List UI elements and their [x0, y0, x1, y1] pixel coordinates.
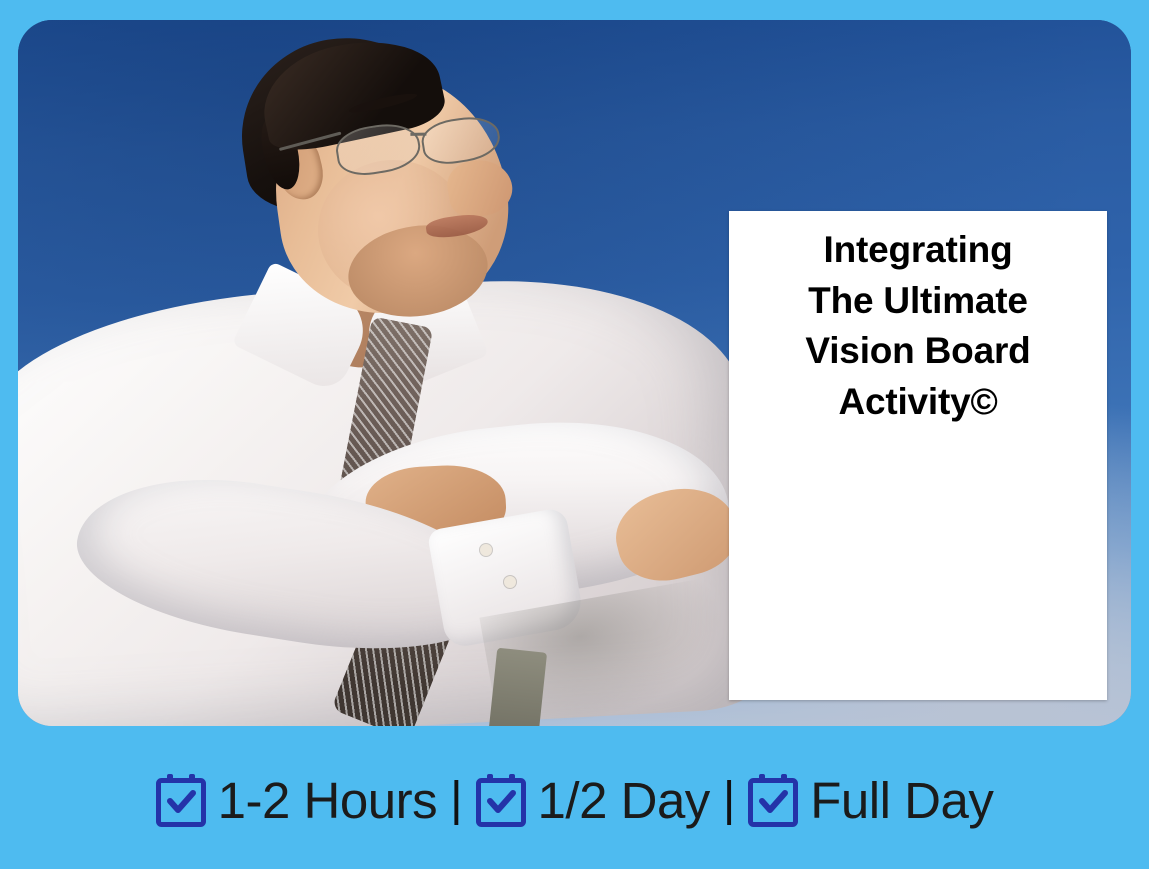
slide-root: Integrating The Ultimate Vision Board Ac…: [0, 0, 1149, 869]
cuff-button-2: [504, 576, 516, 588]
duration-option-half-day[interactable]: 1/2 Day: [476, 771, 710, 830]
duration-label: 1/2 Day: [538, 771, 710, 830]
duration-option-full-day[interactable]: Full Day: [748, 771, 993, 830]
page-title: Integrating The Ultimate Vision Board Ac…: [729, 211, 1107, 428]
calendar-check-icon: [476, 773, 526, 827]
lens-left: [333, 119, 423, 180]
title-card: Integrating The Ultimate Vision Board Ac…: [729, 211, 1107, 700]
calendar-check-icon: [156, 773, 206, 827]
lens-right: [419, 112, 503, 168]
duration-label: 1-2 Hours: [218, 771, 437, 830]
title-line-1: Integrating: [739, 225, 1097, 276]
duration-label: Full Day: [810, 771, 993, 830]
duration-separator: |: [710, 776, 748, 824]
duration-options-bar: 1-2 Hours | 1/2 Day | Full Day: [0, 752, 1149, 848]
duration-separator: |: [437, 776, 475, 824]
title-line-4: Activity©: [739, 377, 1097, 428]
calendar-check-icon: [748, 773, 798, 827]
title-line-3: Vision Board: [739, 326, 1097, 377]
businessman-photo: [18, 20, 778, 726]
title-line-2: The Ultimate: [739, 276, 1097, 327]
bag-strap: [487, 648, 547, 726]
glasses-bridge: [410, 133, 426, 136]
duration-option-1-2-hours[interactable]: 1-2 Hours: [156, 771, 437, 830]
cuff-button-1: [480, 544, 492, 556]
